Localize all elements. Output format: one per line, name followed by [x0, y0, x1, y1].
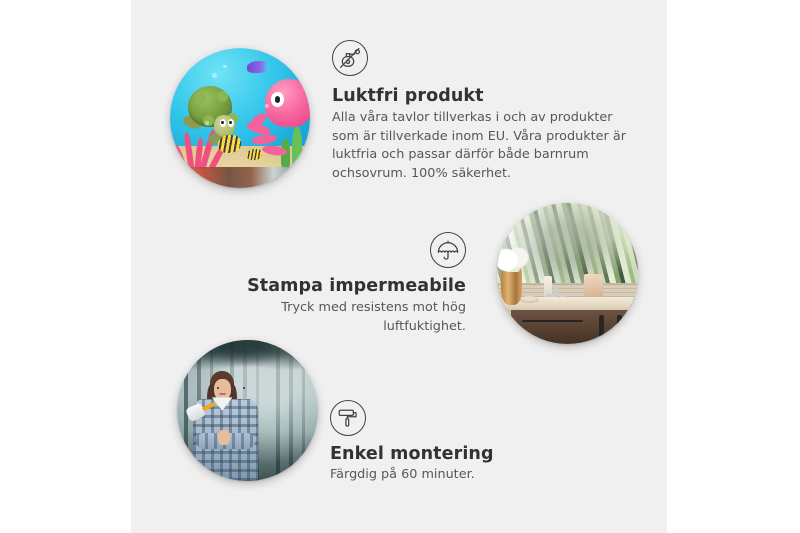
wooden-vanity-cabinet	[511, 310, 638, 344]
feature-easy-mounting: Enkel montering Färgdig på 60 minuter.	[330, 400, 590, 485]
medallion-bathroom	[497, 203, 638, 344]
forest-artwork	[177, 340, 318, 481]
ocean-foreground-strip	[170, 167, 310, 188]
turtle-eye	[228, 119, 234, 127]
feature-body: Alla våra tavlor tillverkas i och av pro…	[332, 109, 632, 183]
white-flowers	[497, 247, 531, 272]
fish-icon	[247, 61, 269, 74]
bubble-icon	[223, 65, 227, 69]
medallion-forest-painter	[177, 340, 318, 481]
octopus-eye	[271, 92, 283, 107]
promo-graphic: Luktfri produkt Alla våra tavlor tillver…	[0, 0, 800, 533]
medallion-ocean	[170, 48, 310, 188]
bubble-icon	[212, 73, 217, 78]
octopus-arm	[262, 145, 288, 158]
bubble-icon	[265, 104, 269, 108]
feature-title: Stampa impermeabile	[196, 276, 466, 296]
octopus-arm	[252, 134, 278, 147]
sea-turtle-icon	[183, 86, 247, 142]
feature-title: Luktfri produkt	[332, 86, 632, 106]
octopus-icon	[251, 79, 310, 157]
feature-waterproof: Stampa impermeabile Tryck med resistens …	[196, 232, 466, 336]
octopus-head	[265, 79, 310, 128]
feature-odor-free: Luktfri produkt Alla våra tavlor tillver…	[332, 40, 632, 183]
feature-body: Färgdig på 60 minuter.	[330, 466, 590, 485]
feature-body: Tryck med resistens mot hög luftfuktighe…	[196, 299, 466, 336]
no-fragrance-spray-icon	[332, 40, 368, 76]
ocean-artwork	[170, 48, 310, 188]
feature-title: Enkel montering	[330, 444, 590, 464]
bathroom-artwork	[497, 203, 638, 344]
face	[214, 379, 231, 401]
paint-roller-icon	[330, 400, 366, 436]
umbrella-icon	[430, 232, 466, 268]
woman-painter	[188, 371, 267, 481]
turtle-eye	[220, 119, 226, 127]
hand	[218, 430, 230, 444]
turtle-head	[214, 115, 236, 137]
